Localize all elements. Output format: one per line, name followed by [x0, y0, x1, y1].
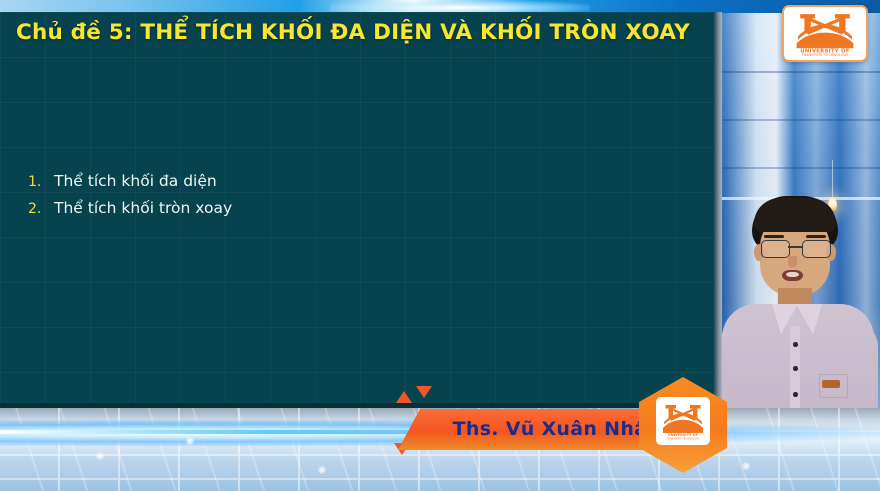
- presenter-nose: [788, 256, 797, 268]
- university-logo-badge: UNIVERSITY OF TRANSPORT TECHNOLOGY: [782, 5, 868, 62]
- list-item-number: 2.: [28, 201, 54, 217]
- triangle-down-icon: [416, 386, 432, 398]
- bridge-logo-icon: UNIVERSITY OF TRANSPORT TECHNOLOGY: [660, 402, 706, 440]
- floor-highlight-dot: [186, 437, 194, 445]
- bridge-logo-icon: UNIVERSITY OF TRANSPORT TECHNOLOGY: [791, 12, 859, 56]
- floor-highlight-dot: [318, 466, 326, 474]
- logo-line2: TRANSPORT TECHNOLOGY: [801, 53, 849, 56]
- glasses-lens-right: [802, 240, 831, 258]
- glasses-icon: [761, 240, 829, 257]
- presenter-teeth: [786, 272, 799, 277]
- glasses-lens-left: [761, 240, 790, 258]
- lamp-wire: [832, 160, 833, 200]
- floor-highlight-dot: [96, 452, 104, 460]
- slide-title: Chủ đề 5: THỂ TÍCH KHỐI ĐA DIỆN VÀ KHỐI …: [16, 20, 656, 45]
- shirt-button: [793, 366, 798, 371]
- hexagon-university-logo: UNIVERSITY OF TRANSPORT TECHNOLOGY: [656, 397, 710, 445]
- list-item: 2. Thể tích khối tròn xoay: [28, 199, 448, 217]
- logo-line2: TRANSPORT TECHNOLOGY: [667, 437, 700, 441]
- list-item-number: 1.: [28, 174, 54, 190]
- logo-line1: UNIVERSITY OF: [668, 433, 699, 437]
- video-lecture-frame: Chủ đề 5: THỂ TÍCH KHỐI ĐA DIỆN VÀ KHỐI …: [0, 0, 880, 491]
- list-item-label: Thể tích khối tròn xoay: [54, 199, 232, 217]
- slide-bottom-edge: [0, 403, 713, 408]
- presenter-pocket-tag: [822, 380, 840, 388]
- shirt-button: [793, 342, 798, 347]
- presenter-brow-right: [806, 235, 826, 238]
- presenter-hair-top: [754, 198, 836, 232]
- floor-highlight-dot: [742, 462, 750, 470]
- triangle-up-icon: [396, 391, 412, 403]
- slide-bullet-list: 1. Thể tích khối đa diện 2. Thể tích khố…: [28, 172, 448, 226]
- list-item-label: Thể tích khối đa diện: [54, 172, 217, 190]
- slide-right-edge: [713, 12, 722, 408]
- list-item: 1. Thể tích khối đa diện: [28, 172, 448, 190]
- glasses-bridge: [788, 246, 802, 248]
- presenter-brow-left: [764, 235, 784, 238]
- shirt-button: [793, 392, 798, 397]
